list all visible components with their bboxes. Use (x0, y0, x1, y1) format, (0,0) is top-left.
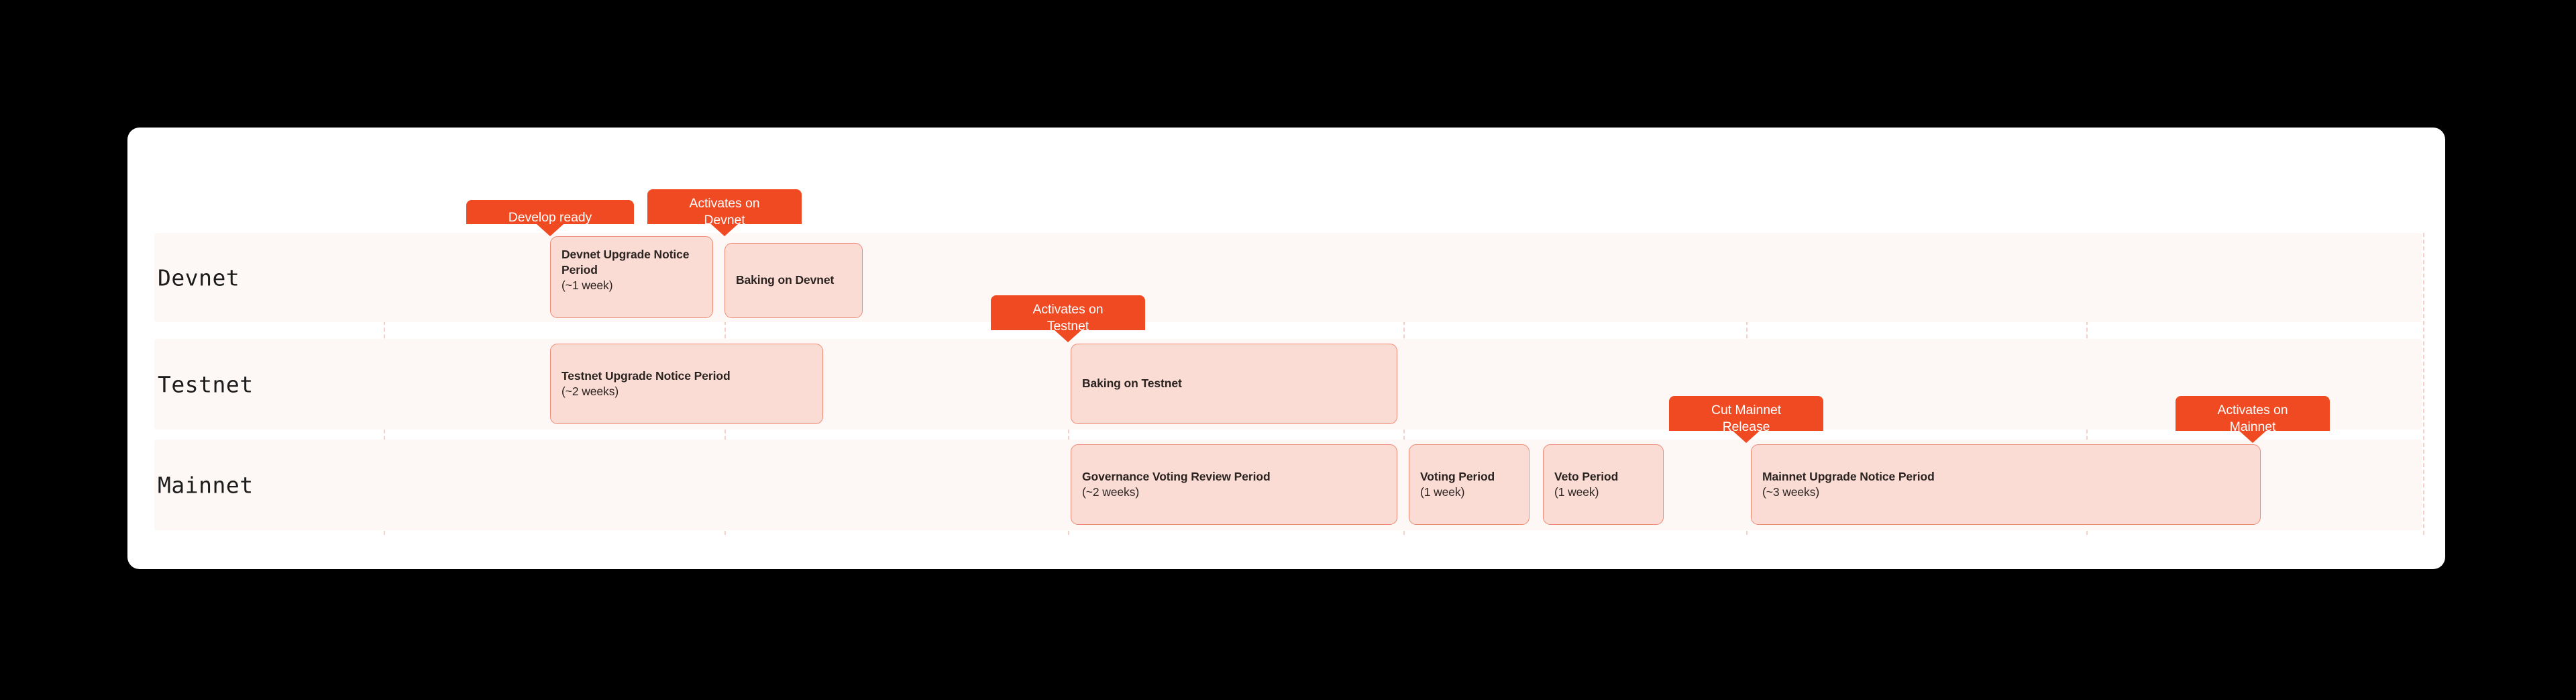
marker-label: Cut Mainnet Release (1711, 402, 1781, 436)
bar-title: Mainnet Upgrade Notice Period (1762, 469, 2249, 485)
marker-label: Activates on Devnet (689, 195, 759, 229)
marker-label: Activates on Testnet (1032, 301, 1103, 335)
bar-duration: (~1 week) (561, 278, 702, 293)
timeline-card: Devnet Testnet Mainnet Devnet Upgrade No… (127, 128, 2445, 569)
marker-cut-mainnet-release[interactable]: Cut Mainnet Release (1669, 396, 1823, 443)
bar-mainnet-upgrade-notice-period[interactable]: Mainnet Upgrade Notice Period (~3 weeks) (1751, 444, 2261, 525)
bar-baking-on-devnet[interactable]: Baking on Devnet (724, 243, 863, 318)
bar-duration: (~3 weeks) (1762, 485, 2249, 500)
gridline-7 (2423, 233, 2424, 535)
bar-title: Testnet Upgrade Notice Period (561, 368, 812, 384)
bar-title: Baking on Devnet (736, 272, 851, 288)
bar-devnet-upgrade-notice-period[interactable]: Devnet Upgrade Notice Period (~1 week) (550, 236, 713, 318)
marker-activates-on-mainnet[interactable]: Activates on Mainnet (2176, 396, 2330, 443)
bar-title: Governance Voting Review Period (1082, 469, 1386, 485)
row-label-testnet: Testnet (158, 372, 254, 398)
bar-veto-period[interactable]: Veto Period (1 week) (1543, 444, 1664, 525)
marker-develop-ready[interactable]: Develop ready (466, 200, 634, 236)
bar-duration: (1 week) (1554, 485, 1652, 500)
row-label-mainnet: Mainnet (158, 472, 254, 499)
marker-activates-on-testnet[interactable]: Activates on Testnet (991, 295, 1145, 342)
marker-label: Activates on Mainnet (2217, 402, 2288, 436)
bar-baking-on-testnet[interactable]: Baking on Testnet (1071, 344, 1397, 424)
bar-title: Veto Period (1554, 469, 1652, 485)
row-band-devnet (154, 233, 2422, 322)
bar-voting-period[interactable]: Voting Period (1 week) (1409, 444, 1529, 525)
marker-label: Develop ready (508, 209, 592, 226)
bar-duration: (~2 weeks) (561, 384, 812, 399)
bar-governance-voting-review-period[interactable]: Governance Voting Review Period (~2 week… (1071, 444, 1397, 525)
bar-title: Baking on Testnet (1082, 376, 1386, 391)
row-label-devnet: Devnet (158, 265, 239, 291)
bar-title: Voting Period (1420, 469, 1518, 485)
marker-activates-on-devnet[interactable]: Activates on Devnet (647, 189, 802, 236)
screenshot-root: Devnet Testnet Mainnet Devnet Upgrade No… (0, 0, 2576, 700)
bar-title: Devnet Upgrade Notice Period (561, 247, 702, 278)
bar-duration: (1 week) (1420, 485, 1518, 500)
bar-duration: (~2 weeks) (1082, 485, 1386, 500)
bar-testnet-upgrade-notice-period[interactable]: Testnet Upgrade Notice Period (~2 weeks) (550, 344, 823, 424)
